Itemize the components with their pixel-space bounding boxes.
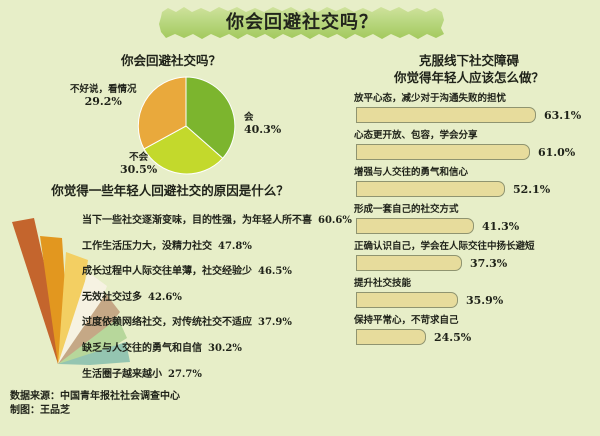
pie-label-buhui-text: 不会	[129, 152, 148, 163]
reason-value: 27.7%	[168, 369, 202, 380]
advice-item: 心态更开放、包容，学会分享 61.0%	[340, 129, 598, 162]
advice-value: 61.0%	[538, 145, 575, 160]
reason-row: 无效社交过多42.6%	[82, 285, 338, 311]
pie-label-hui-value: 40.3%	[244, 124, 281, 136]
advice-heading-line2: 你觉得年轻人应该怎么做？	[340, 69, 598, 86]
advice-bar-row: 63.1%	[340, 107, 598, 125]
advice-value: 24.5%	[434, 330, 471, 345]
advice-bar-row: 24.5%	[340, 329, 598, 347]
pie-label-hui-text: 会	[244, 112, 254, 123]
reason-value: 37.9%	[258, 317, 292, 328]
advice-heading-line1: 克服线下社交障碍	[340, 52, 598, 69]
advice-bar-row: 52.1%	[340, 181, 598, 199]
advice-label: 增强与人交往的勇气和信心	[354, 166, 598, 180]
pie-label-buhaoshuo: 不好说，看情况 29.2%	[70, 84, 137, 108]
title-banner: 你会回避社交吗？	[158, 6, 446, 40]
advice-item: 增强与人交往的勇气和信心 52.1%	[340, 166, 598, 199]
advice-section: 克服线下社交障碍 你觉得年轻人应该怎么做？ 放平心态，减少对于沟通失败的担忧 6…	[340, 52, 600, 402]
advice-label: 心态更开放、包容，学会分享	[354, 129, 598, 143]
advice-bar	[356, 107, 536, 123]
advice-bar	[356, 181, 505, 197]
pie-label-buhui: 不会 30.5%	[120, 152, 157, 176]
advice-label: 正确认识自己，学会在人际交往中扬长避短	[354, 240, 598, 254]
advice-label: 提升社交技能	[354, 277, 598, 291]
advice-value: 52.1%	[513, 182, 550, 197]
reason-value: 47.8%	[218, 241, 252, 252]
pie-label-buhaoshuo-text: 不好说，看情况	[70, 84, 137, 95]
footer: 数据来源：中国青年报社社会调查中心 制图：王品芝	[10, 390, 390, 418]
footer-credit: 制图：王品芝	[10, 404, 390, 418]
pie-chart-section: 你会回避社交吗？ 会 40.3% 不会 30.5% 不好说，看情况 29.2%	[8, 52, 334, 180]
reasons-section: 你觉得一些年轻人回避社交的原因是什么？ 当下一些社交逐渐变味，目的性强，为年轻人…	[0, 182, 340, 382]
reason-row: 当下一些社交逐渐变味，目的性强，为年轻人所不喜60.6%	[82, 208, 338, 234]
title-banner-area: 你会回避社交吗？	[0, 6, 600, 42]
advice-label: 放平心态，减少对于沟通失败的担忧	[354, 92, 598, 106]
reasons-section-heading: 你觉得一些年轻人回避社交的原因是什么？	[20, 182, 320, 199]
reason-label: 工作生活压力大，没精力社交	[82, 241, 212, 252]
reason-label: 无效社交过多	[82, 292, 142, 303]
advice-item: 正确认识自己，学会在人际交往中扬长避短 37.3%	[340, 240, 598, 273]
advice-bar	[356, 144, 530, 160]
advice-bar-row: 41.3%	[340, 218, 598, 236]
reason-label: 成长过程中人际交往单薄，社交经验少	[82, 266, 252, 277]
advice-bar	[356, 329, 426, 345]
advice-item: 放平心态，减少对于沟通失败的担忧 63.1%	[340, 92, 598, 125]
advice-bar	[356, 292, 458, 308]
reason-row: 生活圈子越来越小27.7%	[82, 362, 338, 388]
reason-label: 当下一些社交逐渐变味，目的性强，为年轻人所不喜	[82, 215, 312, 226]
advice-value: 63.1%	[544, 108, 581, 123]
advice-label: 保持平常心，不苛求自己	[354, 314, 598, 328]
pie-section-heading: 你会回避社交吗？	[8, 52, 334, 69]
reason-value: 46.5%	[258, 266, 292, 277]
advice-item: 形成一套自己的社交方式 41.3%	[340, 203, 598, 236]
reason-label: 缺乏与人交往的勇气和自信	[82, 343, 202, 354]
reason-row: 缺乏与人交往的勇气和自信30.2%	[82, 336, 338, 362]
pie-label-buhaoshuo-value: 29.2%	[70, 96, 137, 108]
advice-value: 35.9%	[466, 293, 503, 308]
advice-bar	[356, 218, 474, 234]
footer-source: 数据来源：中国青年报社社会调查中心	[10, 390, 390, 404]
advice-value: 37.3%	[470, 256, 507, 271]
advice-bar-row: 37.3%	[340, 255, 598, 273]
advice-item: 提升社交技能 35.9%	[340, 277, 598, 310]
reason-value: 30.2%	[208, 343, 242, 354]
advice-value: 41.3%	[482, 219, 519, 234]
advice-bar	[356, 255, 462, 271]
reason-label: 生活圈子越来越小	[82, 369, 162, 380]
pie-label-buhui-value: 30.5%	[120, 164, 157, 176]
reason-row: 成长过程中人际交往单薄，社交经验少46.5%	[82, 259, 338, 285]
advice-label: 形成一套自己的社交方式	[354, 203, 598, 217]
reason-row: 工作生活压力大，没精力社交47.8%	[82, 234, 338, 260]
advice-bar-row: 61.0%	[340, 144, 598, 162]
advice-item: 保持平常心，不苛求自己 24.5%	[340, 314, 598, 347]
reason-label: 过度依赖网络社交，对传统社交不适应	[82, 317, 252, 328]
page-title: 你会回避社交吗？	[158, 6, 446, 40]
reason-value: 42.6%	[148, 292, 182, 303]
advice-section-heading: 克服线下社交障碍 你觉得年轻人应该怎么做？	[340, 52, 598, 86]
pie-label-hui: 会 40.3%	[244, 112, 281, 136]
advice-bar-row: 35.9%	[340, 292, 598, 310]
reason-row: 过度依赖网络社交，对传统社交不适应37.9%	[82, 310, 338, 336]
advice-bar-list: 放平心态，减少对于沟通失败的担忧 63.1% 心态更开放、包容，学会分享 61.…	[340, 92, 598, 351]
reasons-list: 当下一些社交逐渐变味，目的性强，为年轻人所不喜60.6% 工作生活压力大，没精力…	[82, 208, 338, 387]
